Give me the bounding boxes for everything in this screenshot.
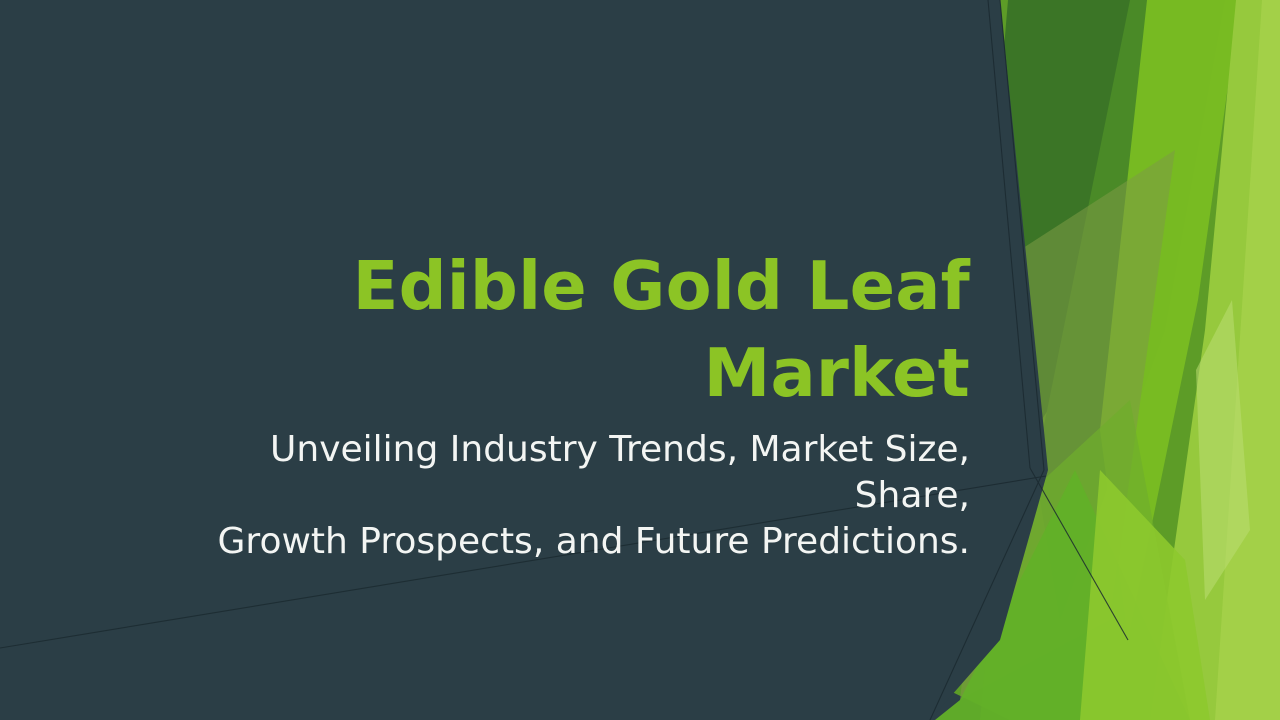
title-block: Edible Gold Leaf Market bbox=[150, 243, 970, 417]
page-subtitle: Unveiling Industry Trends, Market Size, … bbox=[150, 427, 970, 565]
slide-text-layer: Edible Gold Leaf Market Unveiling Indust… bbox=[0, 0, 1280, 720]
title-slide: Edible Gold Leaf Market Unveiling Indust… bbox=[0, 0, 1280, 720]
subtitle-block: Unveiling Industry Trends, Market Size, … bbox=[150, 427, 970, 565]
page-title: Edible Gold Leaf Market bbox=[150, 243, 970, 417]
